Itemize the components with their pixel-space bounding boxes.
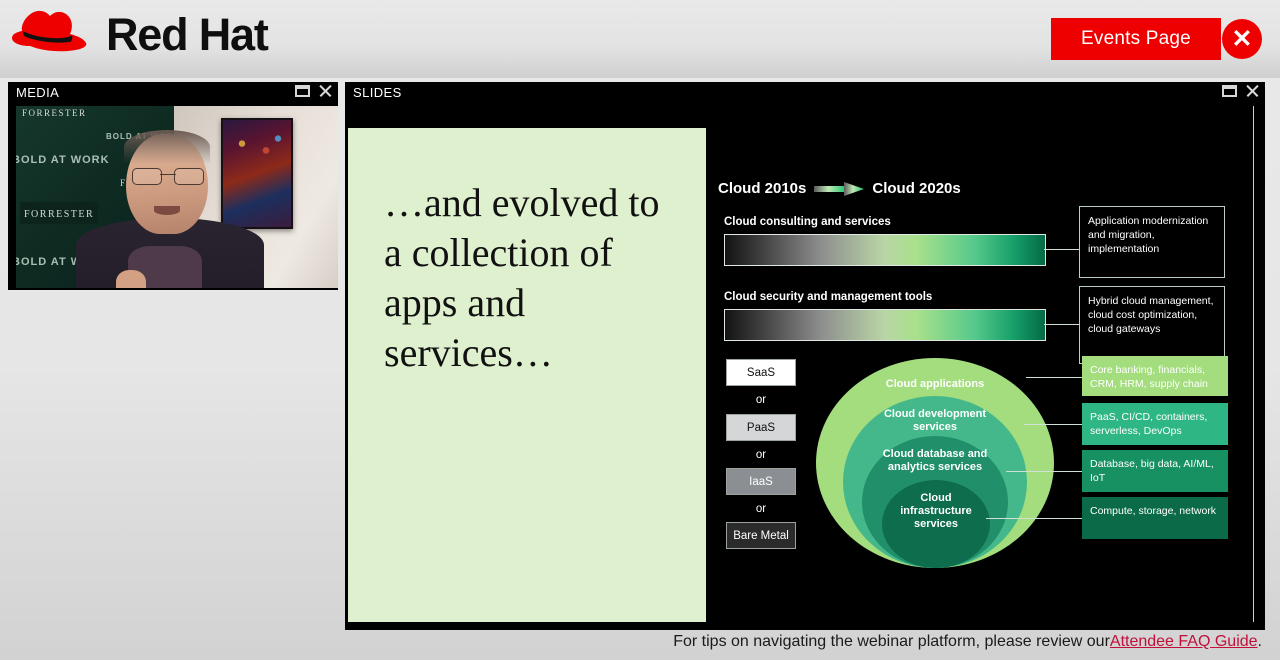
person-hand bbox=[116, 270, 146, 288]
attendee-faq-link[interactable]: Attendee FAQ Guide bbox=[1110, 633, 1258, 651]
slide-quote-panel: …and evolved to a collection of apps and… bbox=[348, 128, 706, 622]
tag-database-bigdata: Database, big data, AI/ML, IoT bbox=[1082, 450, 1228, 492]
ellipse-label: Cloud database and analytics services bbox=[873, 436, 997, 474]
tag-paas-cicd: PaaS, CI/CD, containers, serverless, Dev… bbox=[1082, 403, 1228, 445]
ellipse-label: Cloud infrastructure services bbox=[884, 480, 988, 531]
events-page-button[interactable]: Events Page bbox=[1051, 18, 1221, 60]
glasses-icon bbox=[132, 168, 204, 183]
arrow-right-icon bbox=[814, 181, 864, 197]
era-from-label: Cloud 2010s bbox=[718, 180, 806, 197]
ellipse-label: Cloud development services bbox=[875, 396, 995, 434]
era-title: Cloud 2010s Cloud 2020s bbox=[718, 180, 961, 197]
brand-name: Red Hat bbox=[106, 6, 268, 64]
app-header: Red Hat Events Page ✕ bbox=[0, 0, 1280, 78]
connector-line bbox=[1044, 324, 1080, 325]
connector-line bbox=[1044, 249, 1080, 250]
service-model-bare-metal[interactable]: Bare Metal bbox=[726, 522, 796, 549]
tag-compute-storage: Compute, storage, network bbox=[1082, 497, 1228, 539]
slide-right-edge bbox=[1253, 106, 1254, 622]
bar-label-consulting: Cloud consulting and services bbox=[724, 216, 891, 228]
media-panel-controls bbox=[295, 84, 332, 98]
slides-panel-controls bbox=[1222, 84, 1259, 98]
media-panel-title: MEDIA bbox=[16, 85, 59, 100]
media-panel-titlebar: MEDIA bbox=[8, 82, 338, 106]
background-text: BOLD AT WORK bbox=[16, 154, 110, 166]
connector-line bbox=[1006, 471, 1082, 472]
slides-panel-titlebar: SLIDES bbox=[345, 82, 1265, 106]
cloud-evolution-diagram: Cloud 2010s Cloud 2020s Cloud consulti bbox=[706, 106, 1260, 622]
background-text: FORRESTER bbox=[24, 209, 94, 220]
slides-panel: SLIDES …and evolved to a collection of a… bbox=[345, 82, 1265, 630]
wall-poster bbox=[221, 118, 293, 229]
bar-label-security: Cloud security and management tools bbox=[724, 291, 932, 303]
era-to-label: Cloud 2020s bbox=[872, 180, 960, 197]
or-separator: or bbox=[726, 503, 796, 515]
footer-text: For tips on navigating the webinar platf… bbox=[673, 633, 1110, 651]
restore-icon[interactable] bbox=[1222, 85, 1237, 97]
connector-line bbox=[986, 518, 1082, 519]
slide-canvas[interactable]: …and evolved to a collection of apps and… bbox=[348, 106, 1260, 622]
footer-text-end: . bbox=[1258, 633, 1262, 651]
red-hat-fedora-icon bbox=[10, 6, 96, 64]
connector-line bbox=[1024, 424, 1082, 425]
background-text: FORRESTER bbox=[22, 108, 87, 118]
service-model-saas[interactable]: SaaS bbox=[726, 359, 796, 386]
slides-panel-title: SLIDES bbox=[353, 85, 402, 100]
media-panel: MEDIA FORRESTER BOLD AT WORK BOLD AT WOR… bbox=[8, 82, 338, 290]
service-model-iaas[interactable]: IaaS bbox=[726, 468, 796, 495]
restore-icon[interactable] bbox=[295, 85, 310, 97]
service-model-paas[interactable]: PaaS bbox=[726, 414, 796, 441]
person-hair bbox=[124, 130, 210, 164]
slide-quote-text: …and evolved to a collection of apps and… bbox=[384, 178, 684, 378]
close-icon[interactable]: ✕ bbox=[1222, 19, 1262, 59]
webcam-video[interactable]: FORRESTER BOLD AT WORK BOLD AT WORK FORR… bbox=[16, 106, 338, 288]
red-hat-logo: Red Hat bbox=[10, 6, 268, 64]
or-separator: or bbox=[726, 394, 796, 406]
callout-application-modernization: Application modernization and migration,… bbox=[1079, 206, 1225, 278]
close-icon[interactable] bbox=[1245, 84, 1259, 98]
callout-hybrid-cloud: Hybrid cloud management, cloud cost opti… bbox=[1079, 286, 1225, 364]
or-separator: or bbox=[726, 449, 796, 461]
close-icon[interactable] bbox=[318, 84, 332, 98]
gradient-bar-consulting bbox=[724, 234, 1046, 266]
tag-core-banking: Core banking, financials, CRM, HRM, supp… bbox=[1082, 356, 1228, 396]
person-mouth bbox=[154, 206, 180, 215]
connector-line bbox=[1026, 377, 1082, 378]
ellipse-cloud-infrastructure: Cloud infrastructure services bbox=[882, 480, 990, 568]
footer-tips: For tips on navigating the webinar platf… bbox=[0, 624, 1280, 660]
ellipse-label: Cloud applications bbox=[886, 358, 984, 391]
gradient-bar-security bbox=[724, 309, 1046, 341]
background-logo-box: FORRESTER bbox=[20, 202, 98, 224]
